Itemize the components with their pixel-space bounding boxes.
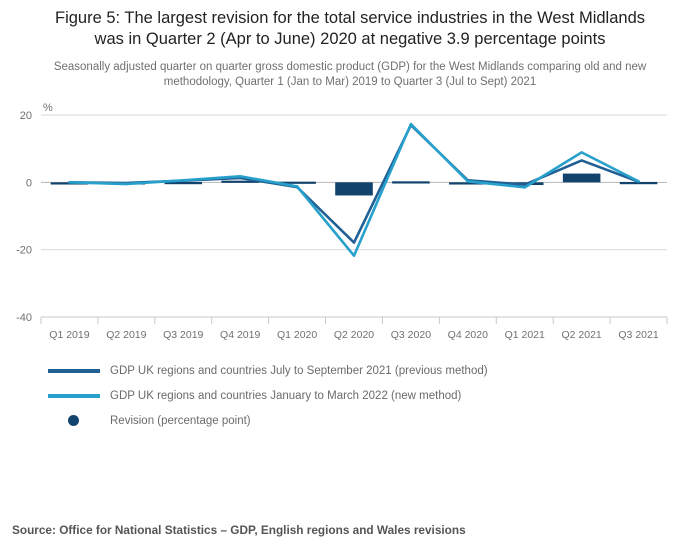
dot-swatch-icon [68, 415, 79, 426]
gdp-revision-chart: %200-20-40Q1 2019Q2 2019Q3 2019Q4 2019Q1… [0, 94, 700, 344]
revision-bar [563, 174, 601, 183]
chart-subtitle: Seasonally adjusted quarter on quarter g… [35, 60, 665, 90]
revision-bar [392, 181, 430, 183]
line-swatch-icon [48, 394, 100, 398]
x-axis-tick-q3-2019: Q3 2019 [163, 329, 203, 341]
x-axis-tick-q2-2020: Q2 2020 [334, 329, 374, 341]
y-axis-unit-label: % [43, 102, 53, 114]
y-axis-tick-0: 0 [26, 177, 32, 189]
legend-label-revision: Revision (percentage point) [104, 415, 251, 427]
legend-item-revision[interactable]: Revision (percentage point) [48, 408, 700, 433]
legend-swatch-new-method [48, 394, 104, 398]
legend-item-previous-method[interactable]: GDP UK regions and countries July to Sep… [48, 358, 700, 383]
chart-legend: GDP UK regions and countries July to Sep… [0, 358, 700, 433]
page-title: Figure 5: The largest revision for the t… [40, 8, 660, 50]
chart-area: %200-20-40Q1 2019Q2 2019Q3 2019Q4 2019Q1… [0, 94, 700, 344]
y-axis-tick--20: -20 [16, 245, 32, 257]
x-axis-tick-q1-2021: Q1 2021 [505, 329, 545, 341]
legend-item-new-method[interactable]: GDP UK regions and countries January to … [48, 383, 700, 408]
x-axis-tick-q4-2019: Q4 2019 [220, 329, 260, 341]
source-note: Source: Office for National Statistics –… [12, 523, 466, 537]
x-axis-tick-q4-2020: Q4 2020 [448, 329, 488, 341]
x-axis-tick-q3-2021: Q3 2021 [618, 329, 658, 341]
legend-label-new-method: GDP UK regions and countries January to … [104, 390, 461, 402]
figure-container: Figure 5: The largest revision for the t… [0, 8, 700, 557]
y-axis-tick--40: -40 [16, 312, 32, 324]
x-axis-tick-q2-2019: Q2 2019 [106, 329, 146, 341]
legend-label-previous-method: GDP UK regions and countries July to Sep… [104, 365, 488, 377]
x-axis-tick-q1-2020: Q1 2020 [277, 329, 317, 341]
legend-swatch-revision [48, 415, 104, 426]
x-axis-tick-q1-2019: Q1 2019 [49, 329, 89, 341]
x-axis-tick-q3-2020: Q3 2020 [391, 329, 431, 341]
legend-swatch-previous-method [48, 369, 104, 373]
line-swatch-icon [48, 369, 100, 373]
y-axis-tick-20: 20 [20, 110, 32, 122]
revision-bar [335, 182, 373, 195]
x-axis-tick-q2-2021: Q2 2021 [561, 329, 601, 341]
